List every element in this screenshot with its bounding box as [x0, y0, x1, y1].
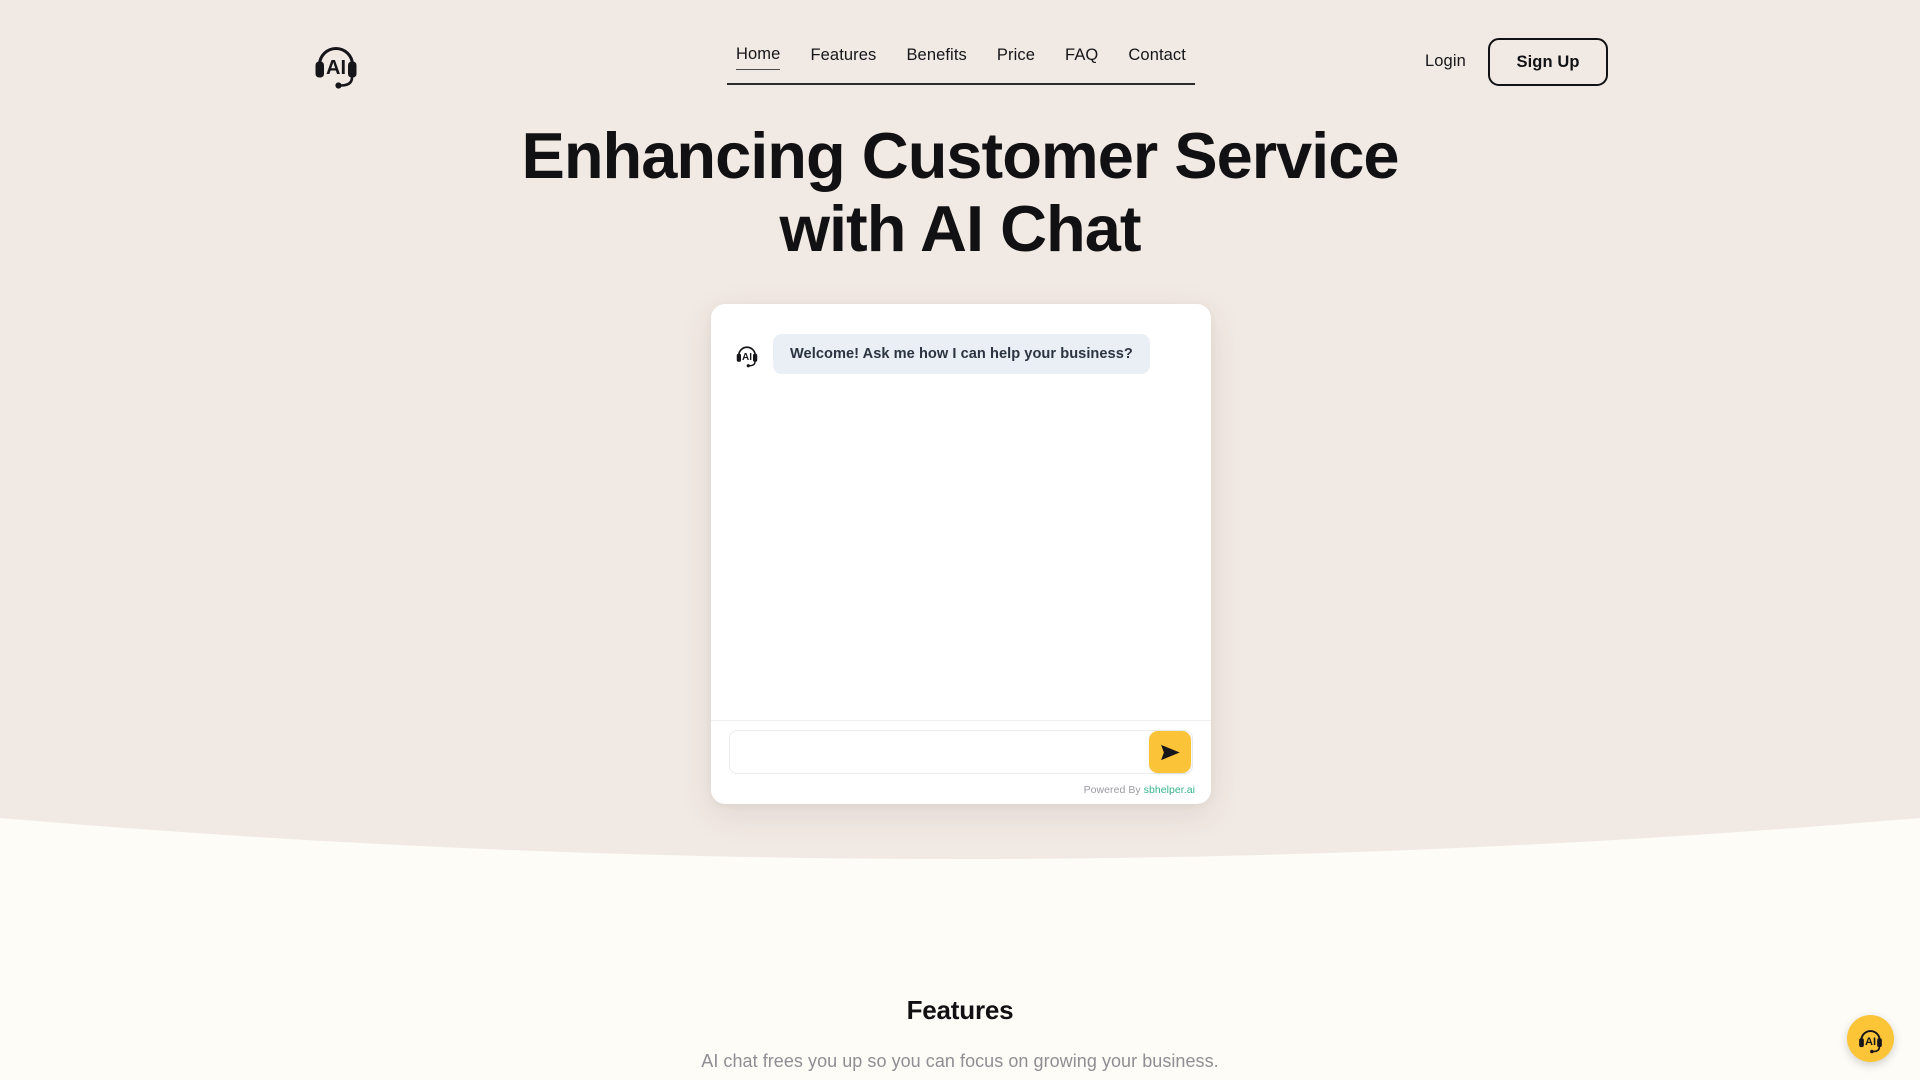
- svg-text:AI: AI: [742, 352, 752, 363]
- svg-text:AI: AI: [326, 57, 346, 79]
- nav-item-home[interactable]: Home: [736, 44, 780, 70]
- headset-ai-fab-icon: AI: [1855, 1023, 1886, 1054]
- nav-item-features[interactable]: Features: [810, 45, 876, 70]
- chat-widget-card: AI Welcome! Ask me how I can help your b…: [711, 304, 1211, 804]
- powered-by-footer: Powered By sbhelper.ai: [1084, 784, 1195, 796]
- paper-plane-icon: [1159, 741, 1182, 764]
- chat-message-list: AI Welcome! Ask me how I can help your b…: [711, 304, 1211, 719]
- svg-text:AI: AI: [1865, 1036, 1876, 1048]
- chat-input-divider: [711, 720, 1211, 721]
- nav-item-benefits[interactable]: Benefits: [906, 45, 966, 70]
- nav-links: Home Features Benefits Price FAQ Contact: [727, 44, 1195, 70]
- site-header: AI Home Features Benefits Price FAQ Cont…: [0, 0, 1920, 110]
- nav-underline-rule: [727, 83, 1195, 85]
- features-heading: Features: [0, 995, 1920, 1026]
- hero-title-line-2: with AI Chat: [0, 193, 1920, 266]
- chat-message-row: AI Welcome! Ask me how I can help your b…: [733, 334, 1189, 374]
- chat-bot-message: Welcome! Ask me how I can help your busi…: [773, 334, 1150, 374]
- main-navigation: Home Features Benefits Price FAQ Contact: [727, 44, 1195, 85]
- headset-ai-logo-icon[interactable]: AI: [308, 34, 364, 90]
- chat-input-bar: [711, 728, 1211, 776]
- page-root: AI Home Features Benefits Price FAQ Cont…: [0, 0, 1920, 1080]
- chat-message-input[interactable]: [729, 730, 1193, 774]
- login-link[interactable]: Login: [1425, 52, 1466, 71]
- nav-item-contact[interactable]: Contact: [1128, 45, 1186, 70]
- send-message-button[interactable]: [1149, 731, 1191, 773]
- hero-title-line-1: Enhancing Customer Service: [0, 120, 1920, 193]
- headset-ai-avatar-icon: AI: [733, 340, 761, 368]
- chat-launcher-fab[interactable]: AI: [1847, 1015, 1894, 1062]
- features-section: Features AI chat frees you up so you can…: [0, 995, 1920, 1072]
- sbhelper-link[interactable]: sbhelper.ai: [1144, 784, 1195, 796]
- nav-item-price[interactable]: Price: [997, 45, 1035, 70]
- powered-by-label: Powered By: [1084, 784, 1141, 796]
- features-subtitle: AI chat frees you up so you can focus on…: [0, 1051, 1920, 1072]
- nav-item-faq[interactable]: FAQ: [1065, 45, 1098, 70]
- hero-title: Enhancing Customer Service with AI Chat: [0, 120, 1920, 266]
- signup-button[interactable]: Sign Up: [1488, 38, 1608, 86]
